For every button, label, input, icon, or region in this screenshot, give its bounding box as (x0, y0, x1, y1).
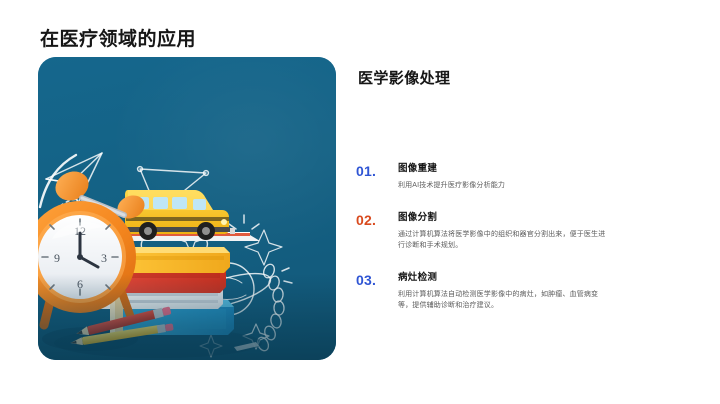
item-title: 图像分割 (398, 212, 686, 224)
section-heading: 医学影像处理 (358, 67, 450, 88)
list-item: 01. 图像重建 利用AI技术提升医疗影像分析能力 (356, 163, 686, 191)
presentation-slide: 在医疗领域的应用 (0, 0, 720, 404)
list-item: 02. 图像分割 通过计算机算法将医学影像中的组织和器官分割出来，便于医生进行诊… (356, 212, 686, 251)
content-column: 医学影像处理 01. 图像重建 利用AI技术提升医疗影像分析能力 02. 图像分… (356, 57, 686, 367)
item-body: 图像分割 通过计算机算法将医学影像中的组织和器官分割出来，便于医生进行诊断和手术… (396, 212, 686, 251)
item-body: 病灶检测 利用计算机算法自动检测医学影像中的病灶，如肿瘤、血管病变等，提供辅助诊… (396, 272, 686, 311)
card-floor-shadow (38, 274, 336, 360)
item-title: 病灶检测 (398, 272, 686, 284)
svg-text:3: 3 (101, 251, 107, 265)
item-body: 图像重建 利用AI技术提升医疗影像分析能力 (396, 163, 686, 191)
item-description: 利用计算机算法自动检测医学影像中的病灶，如肿瘤、血管病变等，提供辅助诊断和治疗建… (398, 289, 610, 311)
list-item: 03. 病灶检测 利用计算机算法自动检测医学影像中的病灶，如肿瘤、血管病变等，提… (356, 272, 686, 311)
svg-text:9: 9 (54, 251, 60, 265)
education-illustration-card: 12 3 6 9 (38, 57, 336, 360)
item-number: 03. (356, 272, 396, 288)
item-number: 02. (356, 212, 396, 228)
item-description: 利用AI技术提升医疗影像分析能力 (398, 180, 610, 191)
item-description: 通过计算机算法将医学影像中的组织和器官分割出来，便于医生进行诊断和手术规划。 (398, 229, 610, 251)
item-title: 图像重建 (398, 163, 686, 175)
page-title: 在医疗领域的应用 (40, 24, 196, 51)
numbered-item-list: 01. 图像重建 利用AI技术提升医疗影像分析能力 02. 图像分割 通过计算机… (356, 163, 686, 332)
item-number: 01. (356, 163, 396, 179)
